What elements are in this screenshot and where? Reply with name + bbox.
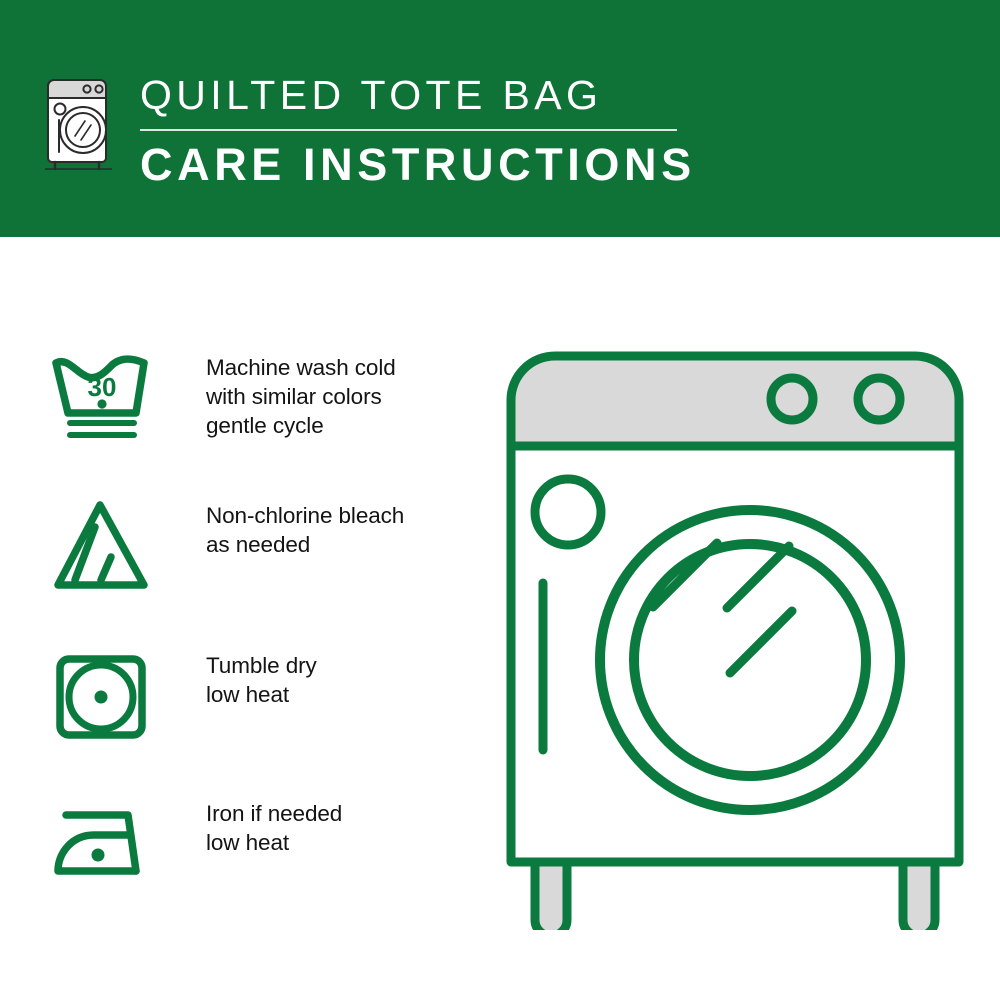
washer-foot — [535, 862, 567, 930]
wash-temperature-label: 30 — [88, 372, 117, 402]
iron-heat-dot-icon — [92, 849, 105, 862]
care-item-wash: 30 Machine wash cold with similar colors… — [48, 347, 488, 447]
care-item-label: Non-chlorine bleach as needed — [206, 495, 404, 559]
care-item-bleach: Non-chlorine bleach as needed — [48, 495, 488, 595]
wash-dot-icon — [97, 399, 106, 408]
page-subtitle: CARE INSTRUCTIONS — [140, 139, 700, 191]
care-item-label: Iron if needed low heat — [206, 793, 342, 857]
iron-low-heat-icon — [48, 793, 160, 893]
washing-machine-icon — [42, 68, 116, 174]
tumble-dry-low-heat-icon — [48, 645, 160, 745]
care-item-label: Tumble dry low heat — [206, 645, 317, 709]
care-item-label: Machine wash cold with similar colors ge… — [206, 347, 396, 440]
header-text-block: QUILTED TOTE BAG CARE INSTRUCTIONS — [140, 70, 700, 191]
non-chlorine-bleach-triangle-icon — [48, 495, 160, 595]
dry-heat-dot-icon — [95, 691, 108, 704]
care-item-iron: Iron if needed low heat — [48, 793, 488, 893]
care-symbol-list: 30 Machine wash cold with similar colors… — [0, 237, 500, 1000]
care-item-tumble-dry: Tumble dry low heat — [48, 645, 488, 745]
title-divider — [140, 129, 677, 131]
washing-machine-illustration — [495, 330, 975, 930]
page-title: QUILTED TOTE BAG — [140, 70, 700, 120]
header-banner: QUILTED TOTE BAG CARE INSTRUCTIONS — [0, 0, 1000, 237]
washer-foot — [903, 862, 935, 930]
care-instructions-page: QUILTED TOTE BAG CARE INSTRUCTIONS — [0, 0, 1000, 1000]
control-panel — [511, 356, 959, 446]
wash-basin-30-gentle-icon: 30 — [48, 347, 160, 447]
